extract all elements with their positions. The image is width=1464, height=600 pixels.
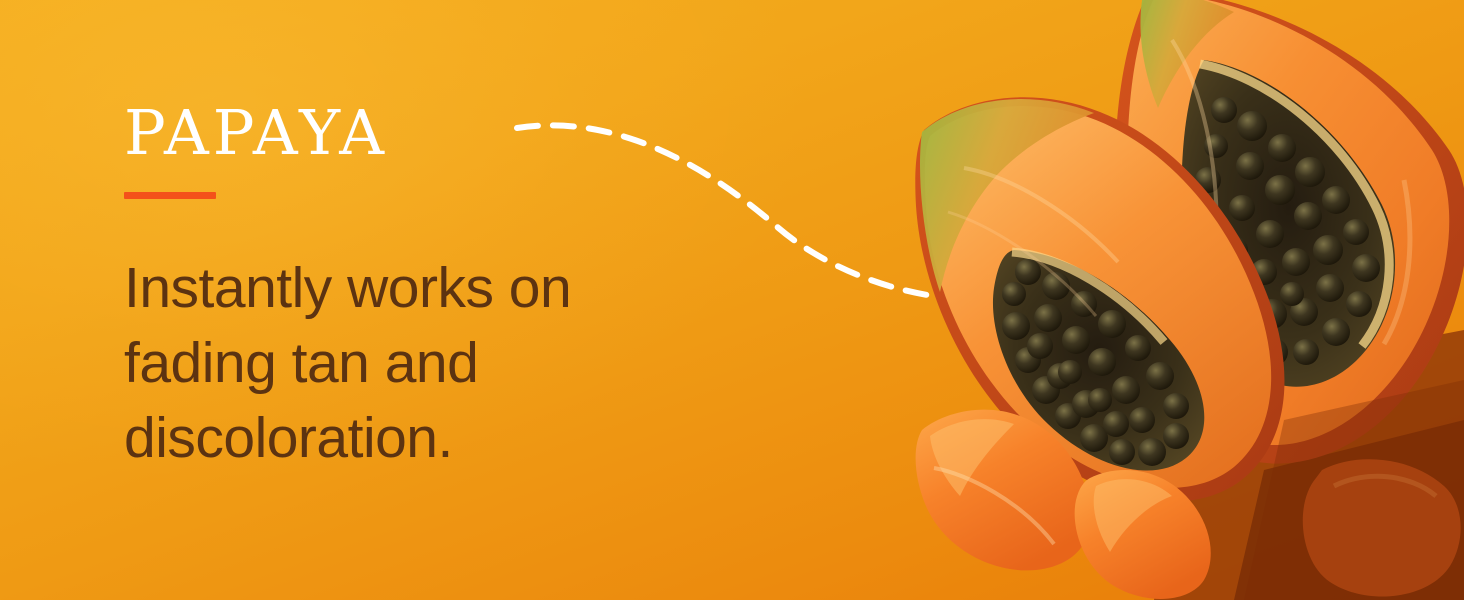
papaya-promo-banner: PAPAYA Instantly works on fading tan and…: [0, 0, 1464, 600]
page-title: PAPAYA: [124, 96, 744, 170]
body-line-3: discoloration.: [124, 401, 744, 476]
accent-rule: [124, 192, 216, 199]
copy-block: PAPAYA Instantly works on fading tan and…: [124, 96, 744, 476]
body-line-1: Instantly works on: [124, 251, 744, 326]
papaya-halves-photo: [904, 0, 1464, 600]
body-line-2: fading tan and: [124, 326, 744, 401]
body-copy: Instantly works on fading tan and discol…: [124, 251, 744, 476]
